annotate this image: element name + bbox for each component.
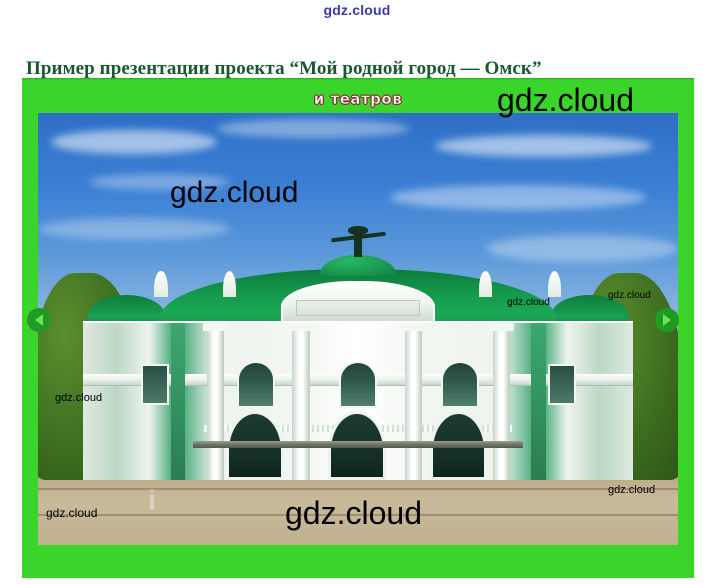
cloud-icon [38, 218, 230, 240]
cloud-icon [217, 119, 409, 138]
chevron-right-icon [663, 314, 671, 326]
facade-column [405, 327, 423, 481]
watermark-overlay-mid-left: gdz.cloud [170, 176, 298, 210]
watermark-small-5: gdz.cloud [46, 506, 97, 520]
cloud-icon [51, 130, 217, 155]
chevron-left-icon [35, 314, 43, 326]
cloud-icon [390, 185, 646, 210]
facade-column [207, 327, 225, 481]
pedestrian [150, 494, 154, 510]
carousel-prev-button[interactable] [27, 308, 51, 332]
watermark-small-4: gdz.cloud [608, 484, 655, 496]
roof-turret [223, 271, 236, 297]
theatre-building [83, 243, 633, 481]
central-dome [319, 255, 396, 276]
green-pilaster [171, 323, 185, 480]
carousel-next-button[interactable] [655, 308, 679, 332]
page-title: Пример презентации проекта “Мой родной г… [26, 58, 542, 80]
facade-window-side [141, 364, 170, 405]
arched-window [441, 361, 480, 408]
header-watermark: gdz.cloud [0, 2, 714, 18]
plaza-line [38, 488, 678, 490]
roof-turret [154, 271, 167, 297]
watermark-small-1: gdz.cloud [507, 297, 550, 308]
roof-turret [479, 271, 492, 297]
pediment [281, 281, 435, 324]
watermark-overlay-top-right: gdz.cloud [497, 82, 634, 119]
facade-column [292, 327, 310, 481]
roof-turret [548, 271, 561, 297]
watermark-small-2: gdz.cloud [608, 290, 651, 301]
pediment-relief [296, 300, 419, 316]
green-pilaster [531, 323, 545, 480]
arched-window [237, 361, 276, 408]
entrance-steps [193, 441, 523, 448]
slide-photo [38, 113, 678, 545]
watermark-overlay-bottom-center: gdz.cloud [285, 495, 422, 532]
facade-column [493, 327, 511, 481]
arched-window [339, 361, 378, 408]
cloud-icon [435, 135, 653, 157]
watermark-small-3: gdz.cloud [55, 392, 102, 404]
building-facade [83, 321, 633, 480]
winged-statue [354, 233, 363, 257]
facade-window-side [548, 364, 577, 405]
